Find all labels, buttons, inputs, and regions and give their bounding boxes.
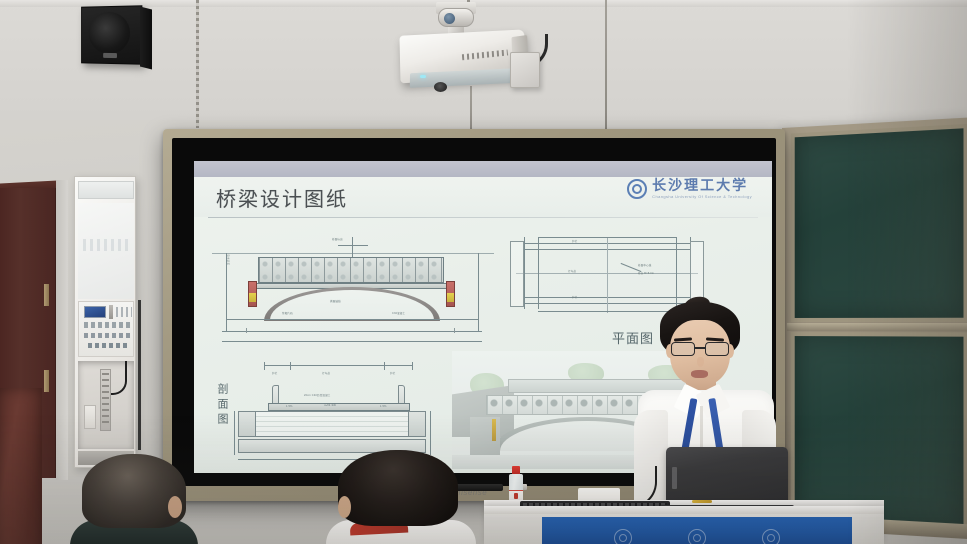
speaker-side-panel bbox=[140, 7, 152, 70]
seal-inner-ring bbox=[632, 184, 642, 194]
glasses-lens-right bbox=[705, 342, 729, 356]
glasses-lens-left bbox=[671, 342, 695, 356]
plan-wingwall-left bbox=[510, 241, 524, 307]
university-name-block: 长沙理工大学 Changsha University Of Science & … bbox=[652, 179, 752, 199]
sect-dim-tick-m1 bbox=[290, 362, 291, 370]
presenter-mouth bbox=[691, 370, 708, 378]
elev-extension-right bbox=[478, 253, 479, 331]
elev-centerline bbox=[352, 237, 353, 257]
ceiling-edge bbox=[0, 0, 967, 7]
elev-note-vert: 设计水位 bbox=[226, 254, 230, 265]
sect-note-surface: 20cm C40沥青混凝土 bbox=[304, 393, 331, 397]
bottom-shading bbox=[0, 414, 967, 544]
door-hinge-upper bbox=[44, 284, 49, 306]
glasses-bridge bbox=[695, 347, 705, 349]
elev-tick-1 bbox=[246, 328, 247, 333]
door-hinge-lower bbox=[44, 370, 49, 392]
classroom-scene: 桥梁设计图纸 长沙理工大学 Changsha University Of Sci… bbox=[0, 0, 967, 544]
sect-dim-tick-m2 bbox=[384, 362, 385, 370]
elev-center-dim bbox=[338, 245, 368, 246]
panel-button-row-1[interactable] bbox=[84, 322, 132, 328]
drawing-elevation-view: 桥面标高 拱圈轴线 浆砌片石 C30混凝土 设计水位 bbox=[212, 223, 494, 351]
glasses-icon bbox=[670, 342, 730, 356]
speaker-badge bbox=[103, 53, 117, 58]
plan-note-2: 护栏 bbox=[572, 295, 577, 299]
elev-dim-line-2 bbox=[222, 341, 482, 342]
university-logo: 长沙理工大学 Changsha University Of Science & … bbox=[627, 179, 752, 199]
cabinet-cable bbox=[111, 361, 127, 395]
hanging-chain bbox=[196, 0, 199, 128]
cabinet-vent-grille bbox=[78, 181, 134, 199]
wall-speaker bbox=[81, 5, 142, 64]
wall-cable bbox=[605, 0, 607, 130]
elev-ground-line bbox=[226, 319, 478, 320]
elev-arch-opening bbox=[270, 290, 434, 320]
projector-status-led bbox=[420, 75, 426, 78]
projector-joint-eye bbox=[444, 13, 455, 24]
elev-top-datum bbox=[212, 253, 494, 254]
sect-note-l: 护栏 bbox=[272, 371, 277, 375]
lcd-screen bbox=[84, 306, 106, 318]
elev-pier-left-marker bbox=[249, 293, 256, 302]
plan-note-5: 桥长 B=8.0m bbox=[638, 271, 654, 275]
wall-junction-box bbox=[510, 52, 540, 88]
slide-title: 桥梁设计图纸 bbox=[216, 183, 348, 212]
cabinet-upper-door[interactable] bbox=[78, 203, 134, 299]
panel-button-row-2[interactable] bbox=[84, 333, 132, 338]
elev-pier-right-marker bbox=[447, 293, 454, 302]
slide-top-band bbox=[194, 161, 772, 177]
university-seal-icon bbox=[627, 179, 647, 199]
university-name-en: Changsha University Of Science & Technol… bbox=[652, 195, 752, 199]
plan-note-1: 护栏 bbox=[572, 239, 577, 243]
elev-note-left: 浆砌片石 bbox=[282, 311, 293, 315]
plan-abut-left bbox=[538, 237, 539, 309]
sect-note-r: 护栏 bbox=[390, 371, 395, 375]
presenter-nose bbox=[697, 357, 704, 367]
panel-button-row-3[interactable] bbox=[88, 343, 128, 348]
elev-note-right: C30混凝土 bbox=[392, 311, 405, 315]
plan-note-3: 行车道 bbox=[568, 269, 576, 273]
elev-note-mid: 拱圈轴线 bbox=[330, 299, 341, 303]
plan-abut-right bbox=[676, 237, 677, 309]
cabinet-label-text bbox=[83, 239, 129, 251]
control-panel[interactable] bbox=[78, 301, 134, 357]
projector-swivel-joint bbox=[438, 8, 474, 27]
plan-dim-top bbox=[538, 237, 676, 238]
elev-railing bbox=[258, 257, 444, 283]
sect-note-c: 行车道 bbox=[322, 371, 330, 375]
speaker-cone-icon bbox=[89, 12, 130, 55]
slide-divider bbox=[208, 217, 758, 218]
panel-indicator-row bbox=[116, 307, 132, 317]
plan-note-4: 桥面中心线 bbox=[638, 263, 652, 267]
elev-tick-2 bbox=[454, 328, 455, 333]
sect-note-slope-l: 1.5% bbox=[286, 405, 293, 408]
sect-dim-tick-l bbox=[264, 362, 265, 370]
plan-axis bbox=[607, 237, 608, 313]
sect-dim-tick-r bbox=[412, 362, 413, 370]
university-name-cn: 长沙理工大学 bbox=[652, 179, 752, 193]
panel-slider[interactable] bbox=[109, 305, 113, 319]
plan-end-left bbox=[524, 237, 525, 309]
elev-dim-line-1 bbox=[222, 331, 482, 332]
sect-note-slope-r: 1.5% bbox=[380, 405, 387, 408]
elev-note-top: 桥面标高 bbox=[332, 237, 343, 241]
sect-note-elev: 125.65 bbox=[324, 403, 336, 407]
projector-vent-icon bbox=[462, 50, 508, 61]
projector-lens-icon bbox=[434, 82, 447, 92]
sect-dim-top bbox=[264, 365, 412, 366]
